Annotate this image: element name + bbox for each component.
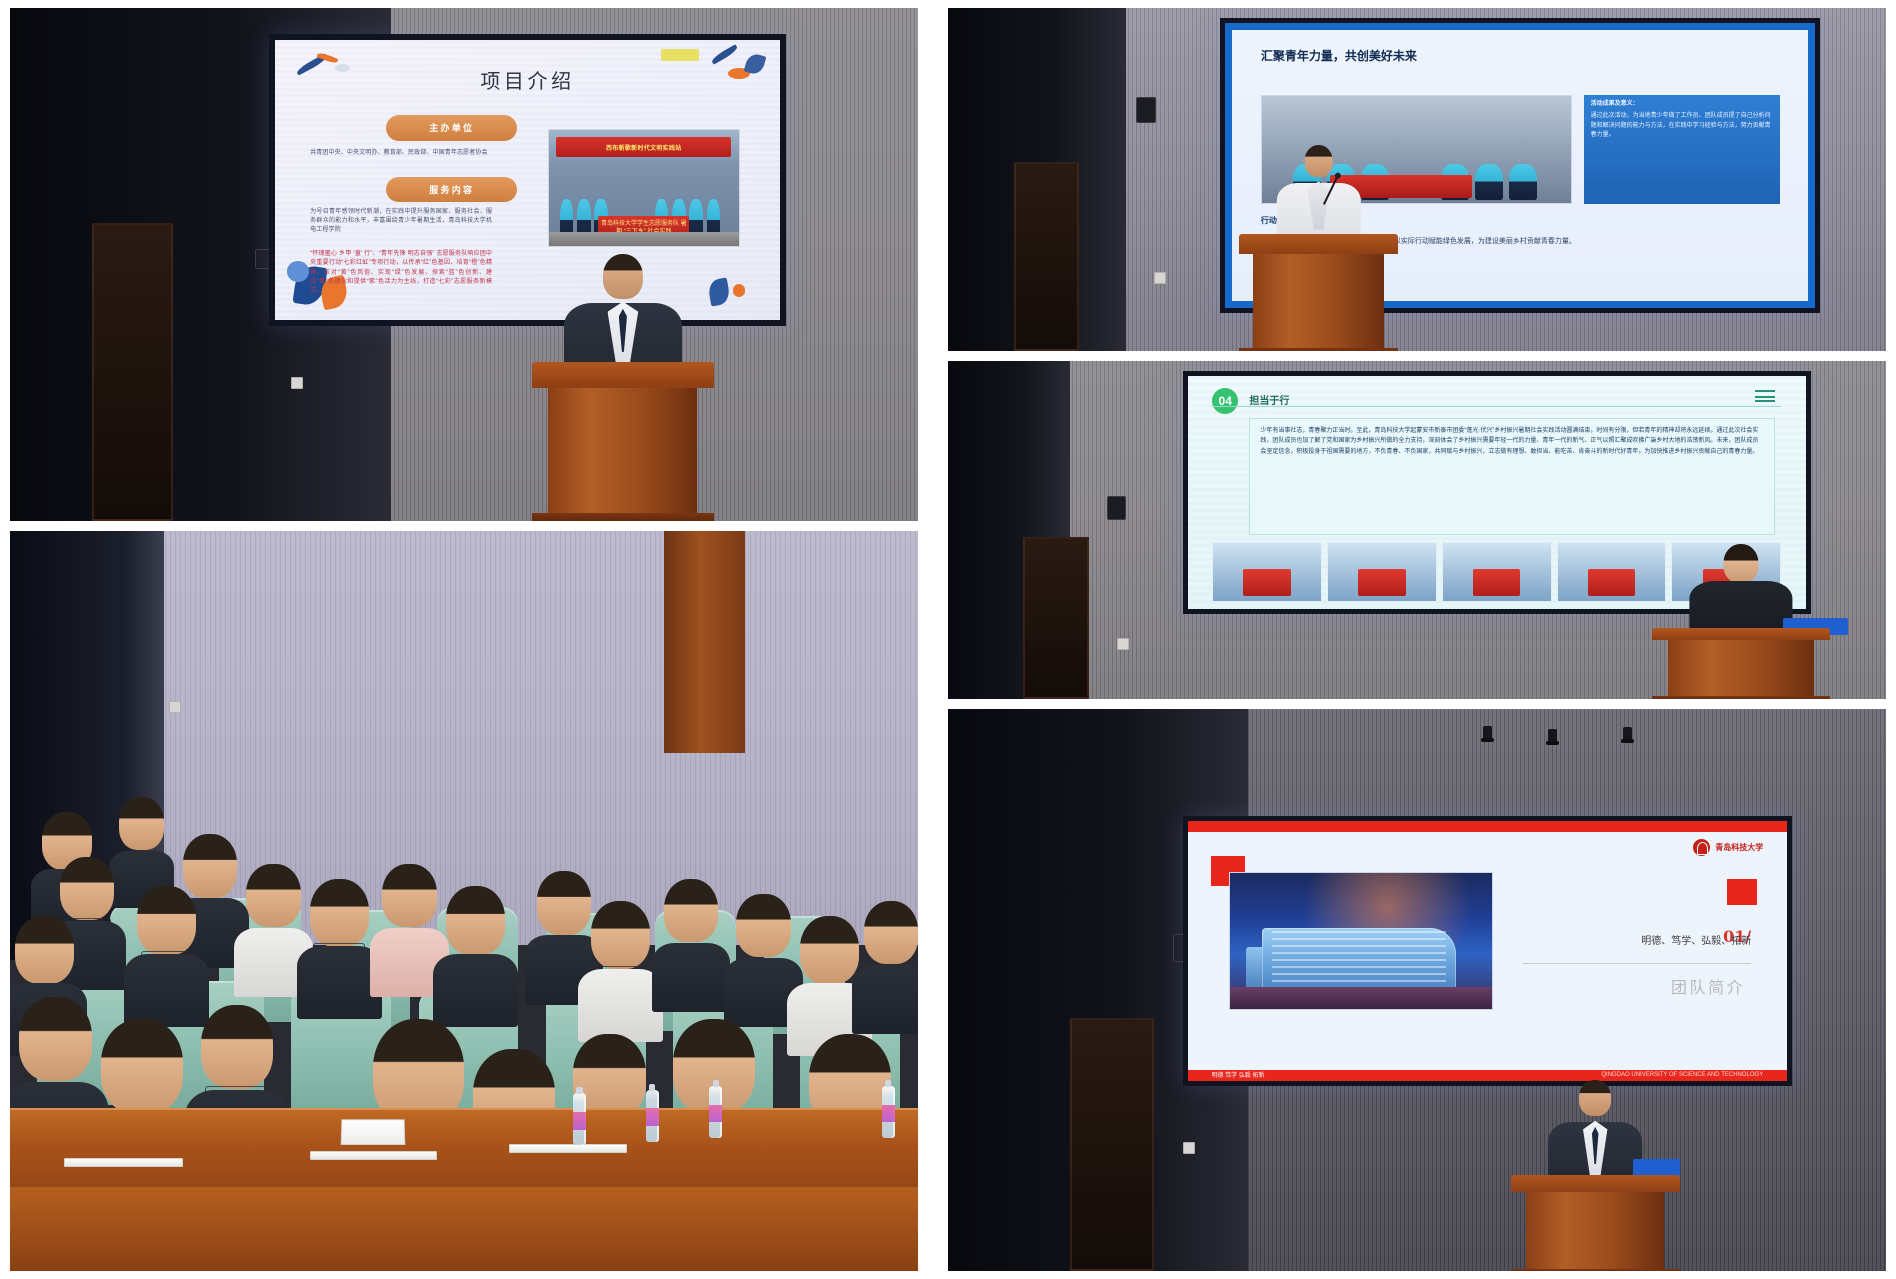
audience-member <box>664 879 718 1012</box>
podium <box>1511 1175 1680 1271</box>
auditorium-seating <box>10 531 918 1271</box>
footer-university-en: QINGDAO UNIVERSITY OF SCIENCE AND TECHNO… <box>1601 1072 1763 1078</box>
slide-side-box: 活动成果及意义： 通过此次活动，为当地青少年做了工作员、团队成员提了自己分析问题… <box>1584 95 1780 203</box>
podium <box>532 362 714 521</box>
name-placard <box>341 1119 406 1145</box>
auditorium-room: 青岛科技大学 01/ 明德、笃学、弘毅、拓新 团队简介 明德 笃学 弘毅 拓新 <box>948 709 1886 1271</box>
audience-member <box>591 901 650 1042</box>
slide-title: 项目介绍 <box>480 65 574 94</box>
audience-member <box>446 886 505 1027</box>
organizer-text: 共青团中央、中央文明办、教育部、民政部、中国青年志愿者协会 <box>310 149 492 158</box>
projection-screen: 青岛科技大学 01/ 明德、笃学、弘毅、拓新 团队简介 明德 笃学 弘毅 拓新 <box>1183 816 1793 1086</box>
section-label: 担当于行 <box>1249 392 1289 407</box>
section-number-badge: 04 <box>1212 388 1238 414</box>
decor-bottom-right <box>694 253 765 309</box>
audience-member <box>382 864 436 997</box>
light-switch <box>1183 1142 1195 1154</box>
slide-body-text: 少年有当事社志，青春聚力正当时。至此，青岛科技大学起蒙安市新泰市团委“蓬光·伏兴… <box>1249 418 1775 535</box>
decor-square <box>1727 879 1757 905</box>
water-bottle <box>573 1093 586 1145</box>
door <box>1023 537 1089 699</box>
university-motto: 明德、笃学、弘毅、拓新 <box>1615 932 1751 947</box>
water-bottle <box>882 1086 895 1138</box>
slide-big-title: 团队简介 <box>1671 974 1745 998</box>
divider <box>1212 406 1781 407</box>
light-switch <box>1154 272 1166 284</box>
logo-text: 青岛科技大学 <box>1715 842 1763 853</box>
wood-column <box>664 531 746 753</box>
podium <box>1652 628 1830 699</box>
wall-outlet <box>169 701 181 713</box>
university-logo: 青岛科技大学 <box>1693 839 1763 856</box>
decor-top-right <box>659 45 770 101</box>
projection-screen: 项目介绍 主办单位 共青团中央、中央文明办、教育部、民政部、中国青年志愿者协会 … <box>269 34 787 326</box>
auditorium-room: 项目介绍 主办单位 共青团中央、中央文明办、教育部、民政部、中国青年志愿者协会 … <box>10 8 918 521</box>
water-bottle <box>709 1086 722 1138</box>
ceiling-spotlight <box>1548 729 1557 742</box>
photo-banner-text: 西布新歌新时代文明实践站 <box>556 137 731 157</box>
wall-panel-switch <box>1107 496 1126 520</box>
panel-speaker-project-intro[interactable]: 项目介绍 主办单位 共青团中央、中央文明办、教育部、民政部、中国青年志愿者协会 … <box>10 8 918 521</box>
thumbnail <box>1327 542 1437 603</box>
logo-mark-icon <box>1693 839 1710 856</box>
light-switch <box>1117 638 1129 650</box>
ceiling-spotlight <box>1623 727 1632 740</box>
thumbnail <box>1557 542 1667 603</box>
slide-embedded-photo: 西布新歌新时代文明实践站 青岛科技大学学生志愿服务队 暑期 “三下乡” 社会实践 <box>548 129 740 247</box>
service-text: 为号召青年感领时代新潮，在实践中提升服务国家、服务社会、服务群众的能力和水平，丰… <box>310 208 492 236</box>
footer-motto: 明德 笃学 弘毅 拓新 <box>1211 1070 1264 1079</box>
door <box>1014 162 1080 351</box>
side-text: 通过此次活动，为当地青少年做了工作员、团队成员提了自己分析问题和解决问题的能力与… <box>1591 112 1773 141</box>
audience-member <box>310 879 369 1020</box>
audience-member <box>246 864 300 997</box>
ceiling-spotlight <box>1483 726 1492 739</box>
door <box>1070 1018 1154 1271</box>
podium <box>1239 234 1398 351</box>
panel-team-intro[interactable]: 青岛科技大学 01/ 明德、笃学、弘毅、拓新 团队简介 明德 笃学 弘毅 拓新 <box>948 709 1886 1271</box>
divider <box>1523 963 1751 964</box>
campus-photo <box>1229 872 1493 1010</box>
front-desk <box>10 1108 918 1271</box>
light-switch <box>291 377 303 389</box>
wall-panel-switch <box>1136 97 1156 123</box>
panel-female-speaker[interactable]: 04 担当于行 少年有当事社志，青春聚力正当时。至此，青岛科技大学起蒙安市新泰市… <box>948 361 1886 699</box>
slide-team-intro: 青岛科技大学 01/ 明德、笃学、弘毅、拓新 团队简介 明德 笃学 弘毅 拓新 <box>1188 821 1788 1081</box>
menu-icon <box>1755 390 1775 402</box>
water-bottle <box>646 1090 659 1142</box>
panel-audience[interactable] <box>10 531 918 1271</box>
side-heading: 活动成果及意义： <box>1591 100 1773 110</box>
paper-document <box>64 1158 182 1167</box>
pill-service: 服务内容 <box>386 177 517 202</box>
photo-ground <box>549 232 739 246</box>
paper-document <box>310 1151 437 1160</box>
decor-top-left <box>290 51 371 96</box>
door <box>92 223 174 521</box>
audience-member <box>864 901 918 1034</box>
paper-document <box>509 1144 627 1153</box>
thumbnail <box>1442 542 1552 603</box>
audience-member <box>736 894 790 1027</box>
thumbnail <box>1212 542 1322 603</box>
service-text-highlight: “怀瑰匿心 乡甲 ‘童’ 行”、“青年先锋 明志自强” 志愿服务队响应团中央重要… <box>310 250 492 296</box>
slide-project-intro: 项目介绍 主办单位 共青团中央、中央文明办、教育部、民政部、中国青年志愿者协会 … <box>275 40 781 320</box>
photo-collage: 项目介绍 主办单位 共青团中央、中央文明办、教育部、民政部、中国青年志愿者协会 … <box>0 0 1896 1279</box>
auditorium-room: 汇聚青年力量，共创美好未来 <box>948 8 1886 351</box>
audience-member <box>137 886 196 1027</box>
pill-organizer: 主办单位 <box>386 115 517 140</box>
panel-speaker-blue-slide[interactable]: 汇聚青年力量，共创美好未来 <box>948 8 1886 351</box>
slide-title: 汇聚青年力量，共创美好未来 <box>1261 47 1417 64</box>
auditorium-room: 04 担当于行 少年有当事社志，青春聚力正当时。至此，青岛科技大学起蒙安市新泰市… <box>948 361 1886 699</box>
